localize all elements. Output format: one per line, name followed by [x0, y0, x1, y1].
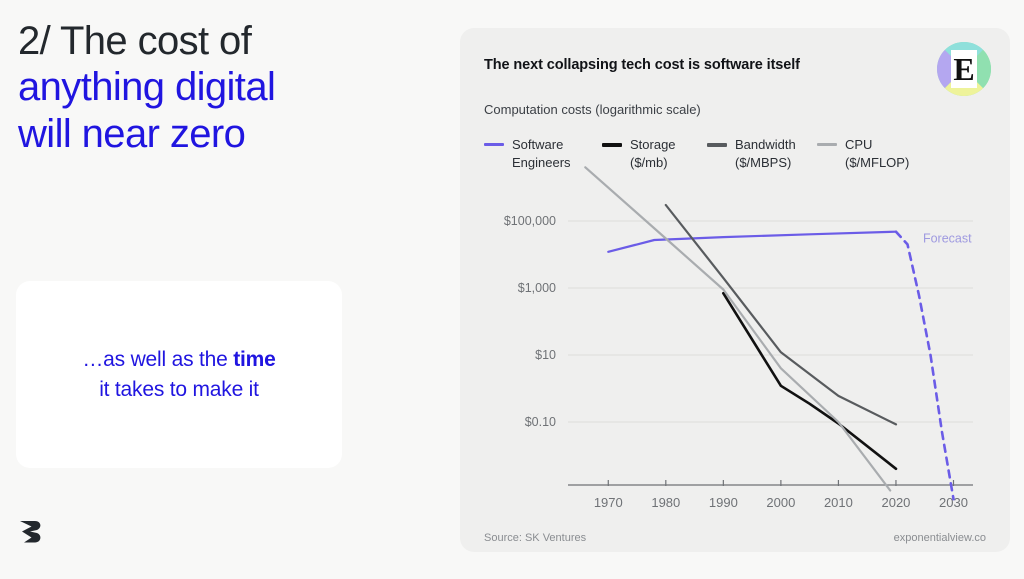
- svg-text:1980: 1980: [651, 495, 680, 510]
- callout-card: …as well as the time it takes to make it: [16, 281, 342, 468]
- svg-text:$1,000: $1,000: [518, 281, 556, 295]
- callout-line-1-prefix: …as well as the: [82, 348, 233, 371]
- svg-text:2000: 2000: [766, 495, 795, 510]
- page-title: 2/ The cost of anything digital will nea…: [18, 18, 438, 157]
- headline-line-1: 2/ The cost of: [18, 18, 438, 64]
- chart-x-axis: [568, 480, 973, 486]
- brand-logo-icon: [18, 517, 44, 547]
- svg-text:Forecast: Forecast: [923, 231, 972, 245]
- svg-text:1990: 1990: [709, 495, 738, 510]
- chart-plot: $100,000$1,000$10$0.10 19701980199020002…: [460, 28, 1010, 552]
- chart-x-axis-labels: 1970198019902000201020202030: [594, 495, 968, 510]
- svg-text:2020: 2020: [881, 495, 910, 510]
- chart-annotations: Forecast: [923, 231, 972, 245]
- chart-source: Source: SK Ventures: [484, 532, 586, 544]
- svg-text:$100,000: $100,000: [504, 214, 556, 228]
- headline-line-3: will near zero: [18, 111, 438, 157]
- svg-text:1970: 1970: [594, 495, 623, 510]
- chart-series-lines: [585, 167, 953, 499]
- chart-card: The next collapsing tech cost is softwar…: [460, 28, 1010, 552]
- callout-line-1-emphasis: time: [233, 348, 275, 371]
- callout-line-1: …as well as the time: [82, 345, 275, 375]
- chart-gridlines: [568, 221, 973, 422]
- callout-line-2: it takes to make it: [99, 375, 259, 405]
- chart-y-axis-labels: $100,000$1,000$10$0.10: [504, 214, 556, 429]
- headline-line-2: anything digital: [18, 64, 438, 110]
- chart-site-credit: exponentialview.co: [894, 532, 986, 544]
- svg-text:$0.10: $0.10: [525, 415, 556, 429]
- svg-text:2010: 2010: [824, 495, 853, 510]
- left-panel: 2/ The cost of anything digital will nea…: [0, 0, 460, 579]
- svg-text:$10: $10: [535, 348, 556, 362]
